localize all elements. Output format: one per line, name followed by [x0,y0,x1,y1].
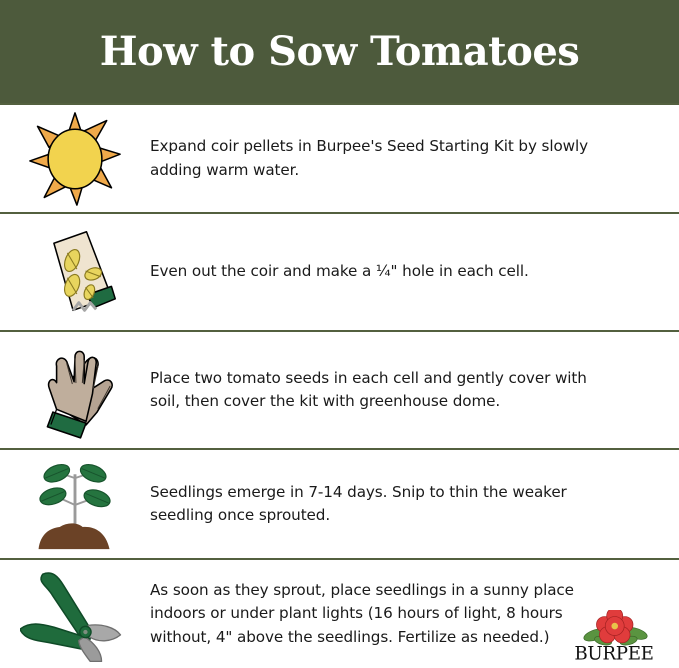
step-description: Expand coir pellets in Burpee's Seed Sta… [150,135,619,181]
page-title: How to Sow Tomatoes [100,32,580,72]
step-row: Expand coir pellets in Burpee's Seed Sta… [0,103,679,212]
step-row: Place two tomato seeds in each cell and … [0,330,679,448]
step-row: As soon as they sprout, place seedlings … [0,558,679,668]
step-row: Seedlings emerge in 7-14 days. Snip to t… [0,448,679,558]
step-description: As soon as they sprout, place seedlings … [150,579,584,648]
step-text-cell: Place two tomato seeds in each cell and … [150,367,679,413]
pruning-shears-icon [20,566,130,662]
seedling-icon [27,457,123,551]
step-text-cell: Even out the coir and make a ¼" hole in … [150,260,679,283]
step-text-cell: Expand coir pellets in Burpee's Seed Sta… [150,135,679,181]
step-row: Even out the coir and make a ¼" hole in … [0,212,679,330]
step-icon-cell [0,332,150,448]
burpee-wordmark: BURPEE [574,644,653,664]
header-banner: How to Sow Tomatoes [0,0,679,103]
step-description: Place two tomato seeds in each cell and … [150,367,619,413]
step-icon-cell [0,105,150,212]
burpee-flower-icon: BURPEE [559,610,669,664]
sun-icon [27,111,123,207]
steps-list: Expand coir pellets in Burpee's Seed Sta… [0,103,679,668]
burpee-logo: BURPEE [559,610,669,664]
gardening-glove-icon [29,340,121,440]
step-text-cell: Seedlings emerge in 7-14 days. Snip to t… [150,481,679,527]
step-icon-cell [0,560,150,668]
step-description: Seedlings emerge in 7-14 days. Snip to t… [150,481,619,527]
step-description: Even out the coir and make a ¼" hole in … [150,260,619,283]
infographic-root: How to Sow Tomatoes [0,0,679,668]
seed-packet-icon [27,226,123,318]
step-icon-cell [0,450,150,558]
step-icon-cell [0,214,150,330]
